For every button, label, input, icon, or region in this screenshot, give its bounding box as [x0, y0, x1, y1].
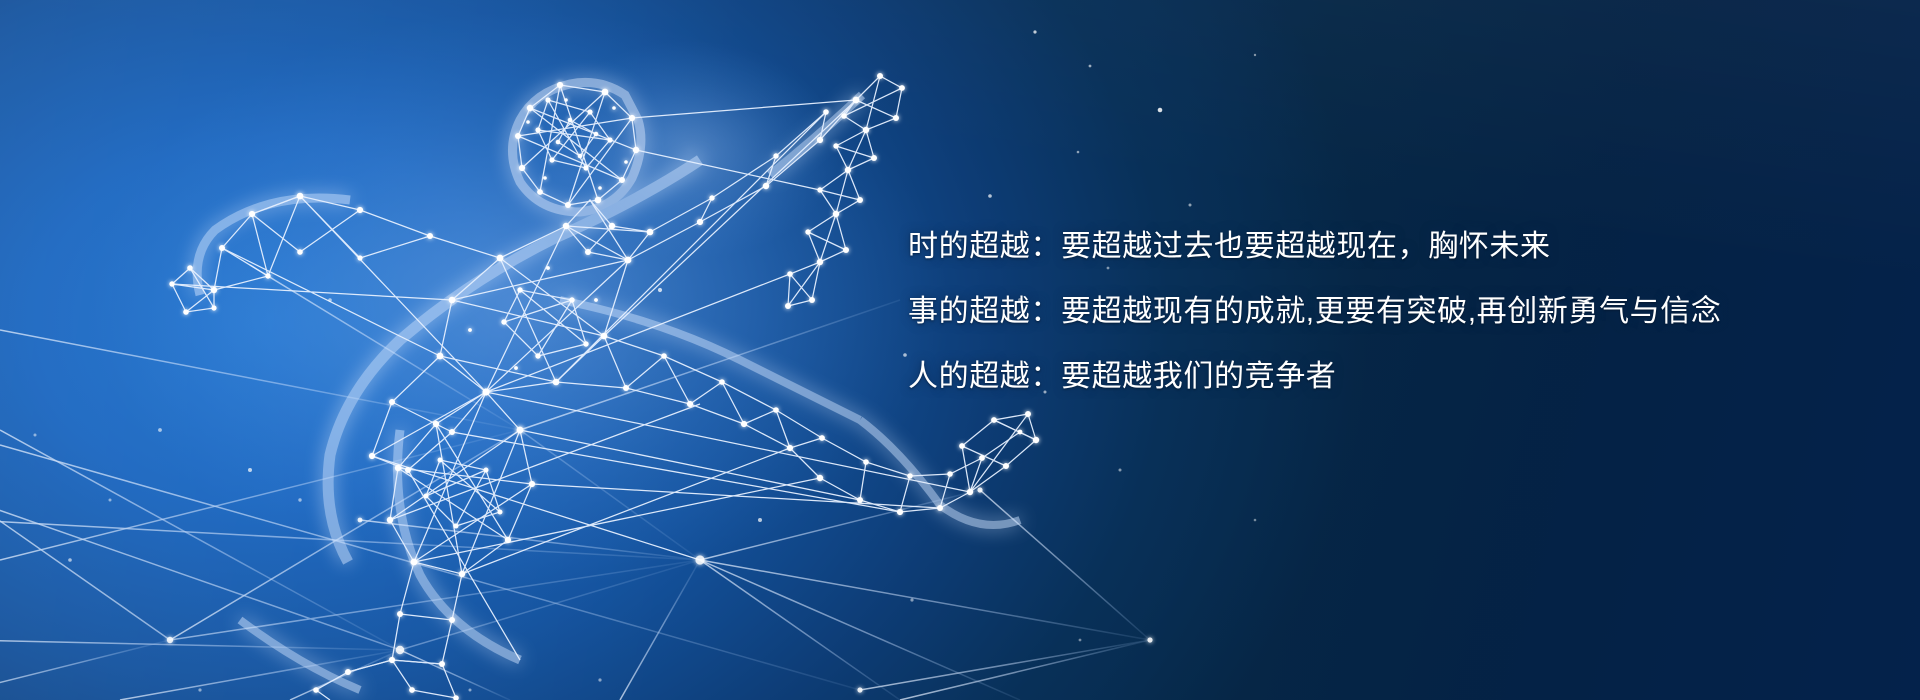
slogan-line-matter: 事的超越：要超越现有的成就,更要有突破,再创新勇气与信念	[908, 297, 1868, 327]
slogan-line-people: 人的超越：要超越我们的竞争者	[908, 362, 1868, 392]
slogan-text-block: 时的超越：要超越过去也要超越现在，胸怀未来 事的超越：要超越现有的成就,更要有突…	[908, 232, 1868, 392]
hero-banner: 时的超越：要超越过去也要超越现在，胸怀未来 事的超越：要超越现有的成就,更要有突…	[0, 0, 1920, 700]
slogan-line-time: 时的超越：要超越过去也要超越现在，胸怀未来	[908, 232, 1868, 262]
